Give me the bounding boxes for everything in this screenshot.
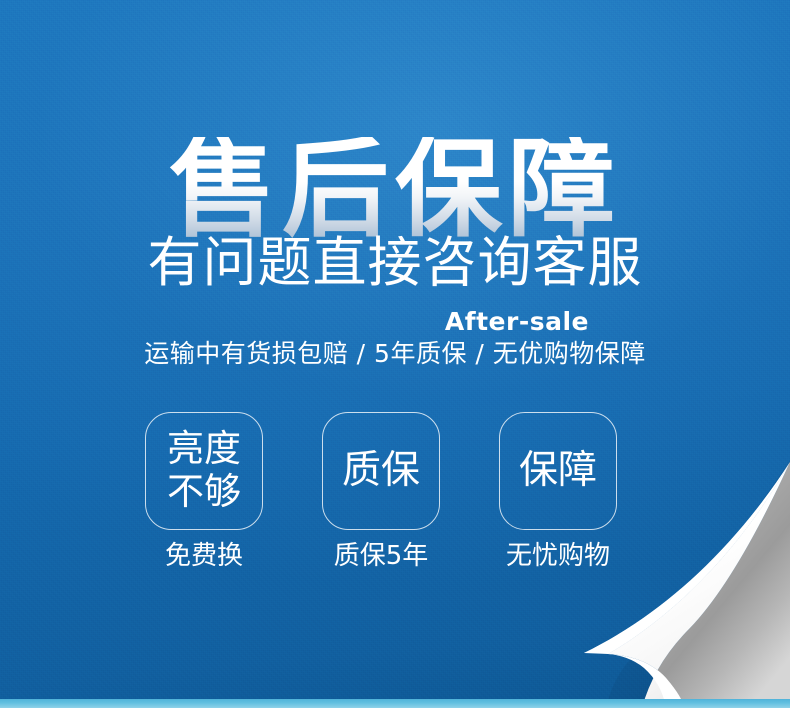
badge-box-warranty: 质保 xyxy=(322,412,440,530)
after-sale-english-label: After-sale xyxy=(0,309,790,334)
badge-caption: 免费换 xyxy=(165,543,243,569)
list-item: 质保 质保5年 xyxy=(322,412,440,569)
badge-box-brightness: 亮度 不够 xyxy=(145,412,263,530)
guarantee-badge-list: 亮度 不够 免费换 质保 质保5年 保障 无忧购物 xyxy=(145,412,617,577)
badge-box-guarantee: 保障 xyxy=(499,412,617,530)
after-sale-banner: 售后保障 有问题直接咨询客服 After-sale 运输中有货损包赔 / 5年质… xyxy=(0,0,790,708)
banner-tagline: 运输中有货损包赔 / 5年质保 / 无优购物保障 xyxy=(0,341,790,366)
badge-line-1: 保障 xyxy=(519,451,597,492)
bottom-accent-strip xyxy=(0,699,790,708)
badge-line-1: 亮度 xyxy=(167,428,241,471)
list-item: 保障 无忧购物 xyxy=(499,412,617,569)
list-item: 亮度 不够 免费换 xyxy=(145,412,263,569)
badge-caption: 质保5年 xyxy=(334,543,429,569)
page-title: 售后保障 xyxy=(0,137,790,244)
badge-line-2: 不够 xyxy=(167,471,241,514)
badge-line-1: 质保 xyxy=(342,451,420,492)
banner-subtitle: 有问题直接咨询客服 xyxy=(0,236,790,290)
badge-caption: 无忧购物 xyxy=(506,543,610,569)
